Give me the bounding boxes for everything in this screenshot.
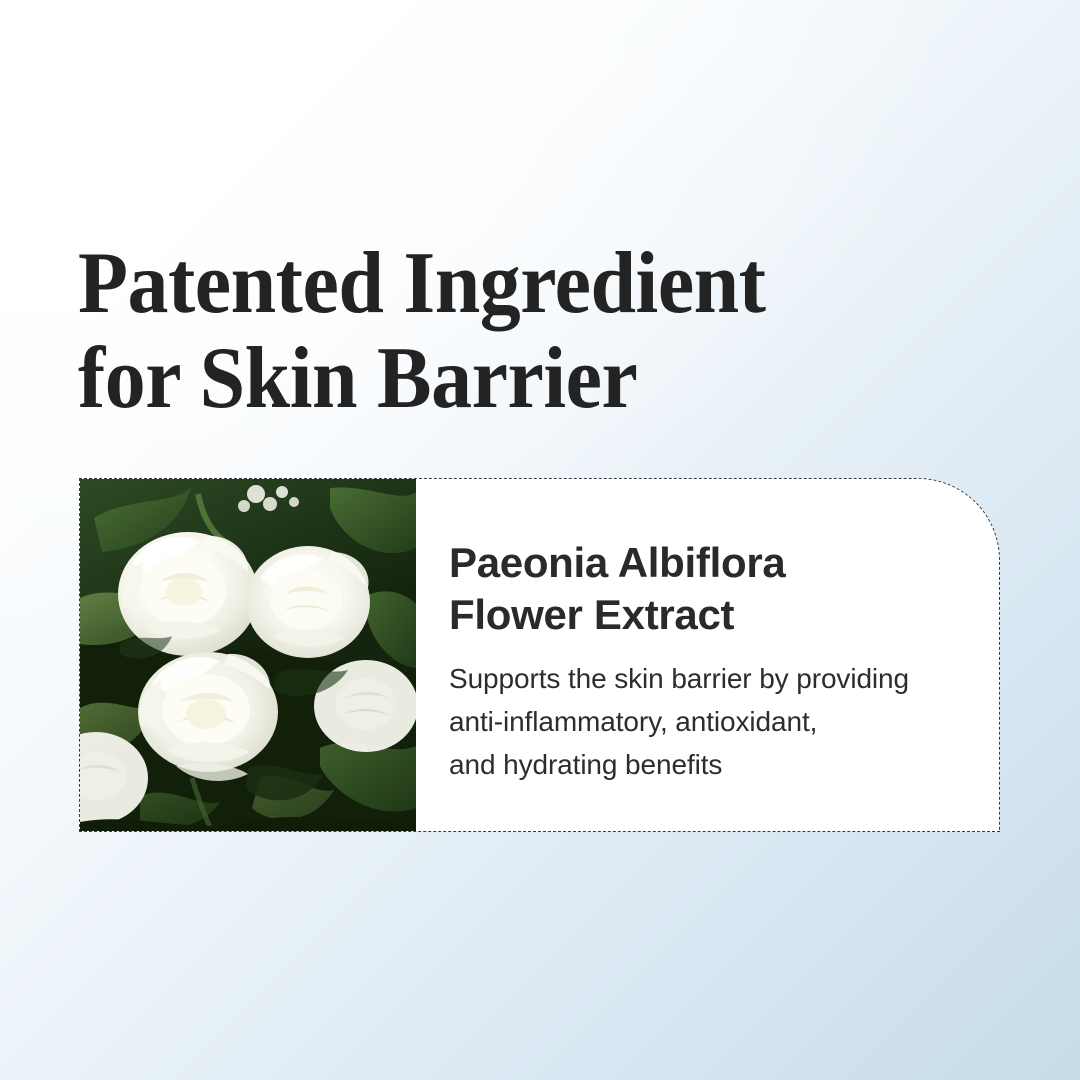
page-title-line-1: Patented Ingredient xyxy=(78,236,915,331)
page-title: Patented Ingredient for Skin Barrier xyxy=(78,236,978,426)
ingredient-description-line-1: Supports the skin barrier by providing xyxy=(449,657,999,700)
ingredient-card-text: Paeonia Albiflora Flower Extract Support… xyxy=(416,479,999,831)
page-title-line-2: for Skin Barrier xyxy=(78,331,915,426)
ingredient-description-line-3: and hydrating benefits xyxy=(449,743,999,786)
ingredient-description-line-2: anti-inflammatory, antioxidant, xyxy=(449,700,999,743)
ingredient-name-line-1: Paeonia Albiflora xyxy=(449,537,999,589)
peony-flower-photo xyxy=(80,479,416,831)
ingredient-description: Supports the skin barrier by providing a… xyxy=(449,657,999,786)
ingredient-card: Paeonia Albiflora Flower Extract Support… xyxy=(79,478,1000,832)
ingredient-name: Paeonia Albiflora Flower Extract xyxy=(449,537,999,641)
ingredient-name-line-2: Flower Extract xyxy=(449,589,999,641)
